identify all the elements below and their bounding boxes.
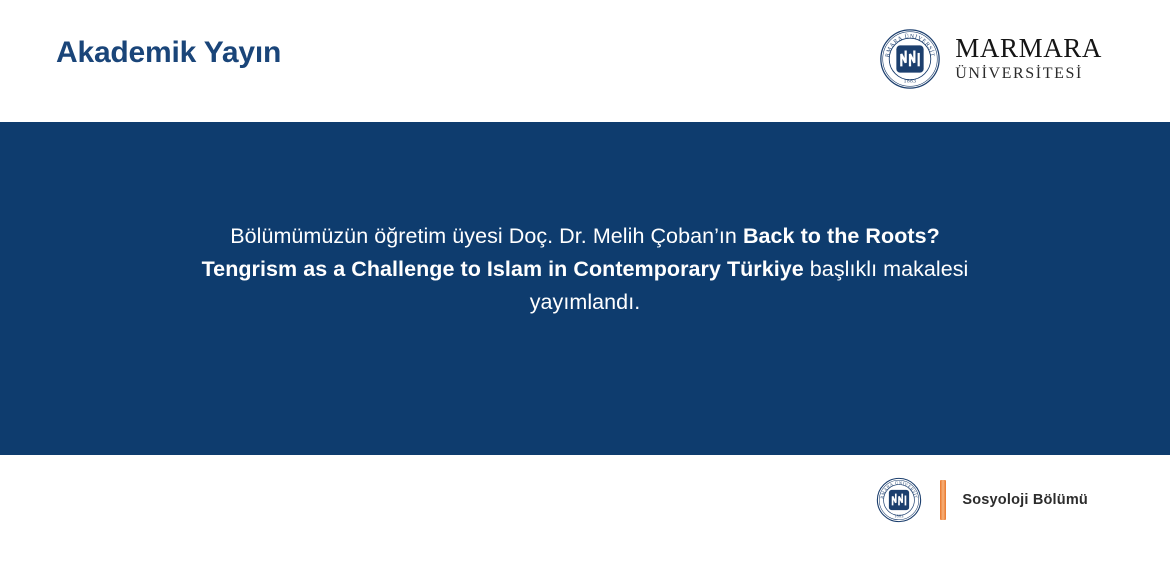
announcement-band: Bölümümüzün öğretim üyesi Doç. Dr. Melih… [0, 122, 1170, 455]
slide-footer: MARMARA ÜNİVERSİTESİ 1883 Sosyoloji Bölü… [0, 455, 1170, 571]
department-name: Sosyoloji Bölümü [962, 492, 1088, 508]
page-title: Akademik Yayın [56, 36, 281, 69]
accent-divider [940, 480, 946, 520]
university-wordmark: MARMARA ÜNİVERSİTESİ [955, 35, 1102, 84]
wordmark-secondary: ÜNİVERSİTESİ [955, 64, 1083, 83]
marmara-seal-icon: MARMARA ÜNİVERSİTESİ 1883 [876, 477, 922, 523]
slide-header: Akademik Yayın MARMARA ÜNİVERSİTESİ 1883 [0, 0, 1170, 122]
university-logo: MARMARA ÜNİVERSİTESİ 1883 MARMARA ÜNİVER… [879, 28, 1102, 90]
svg-text:1883: 1883 [904, 79, 917, 85]
slide: Akademik Yayın MARMARA ÜNİVERSİTESİ 1883 [0, 0, 1170, 571]
department-brand: MARMARA ÜNİVERSİTESİ 1883 Sosyoloji Bölü… [876, 477, 1088, 523]
announcement-lead: Bölümümüzün öğretim üyesi Doç. Dr. Melih… [230, 224, 743, 248]
announcement-text: Bölümümüzün öğretim üyesi Doç. Dr. Melih… [0, 220, 1170, 319]
marmara-seal-icon: MARMARA ÜNİVERSİTESİ 1883 [879, 28, 941, 90]
wordmark-primary: MARMARA [955, 35, 1102, 63]
svg-text:1883: 1883 [895, 513, 904, 518]
